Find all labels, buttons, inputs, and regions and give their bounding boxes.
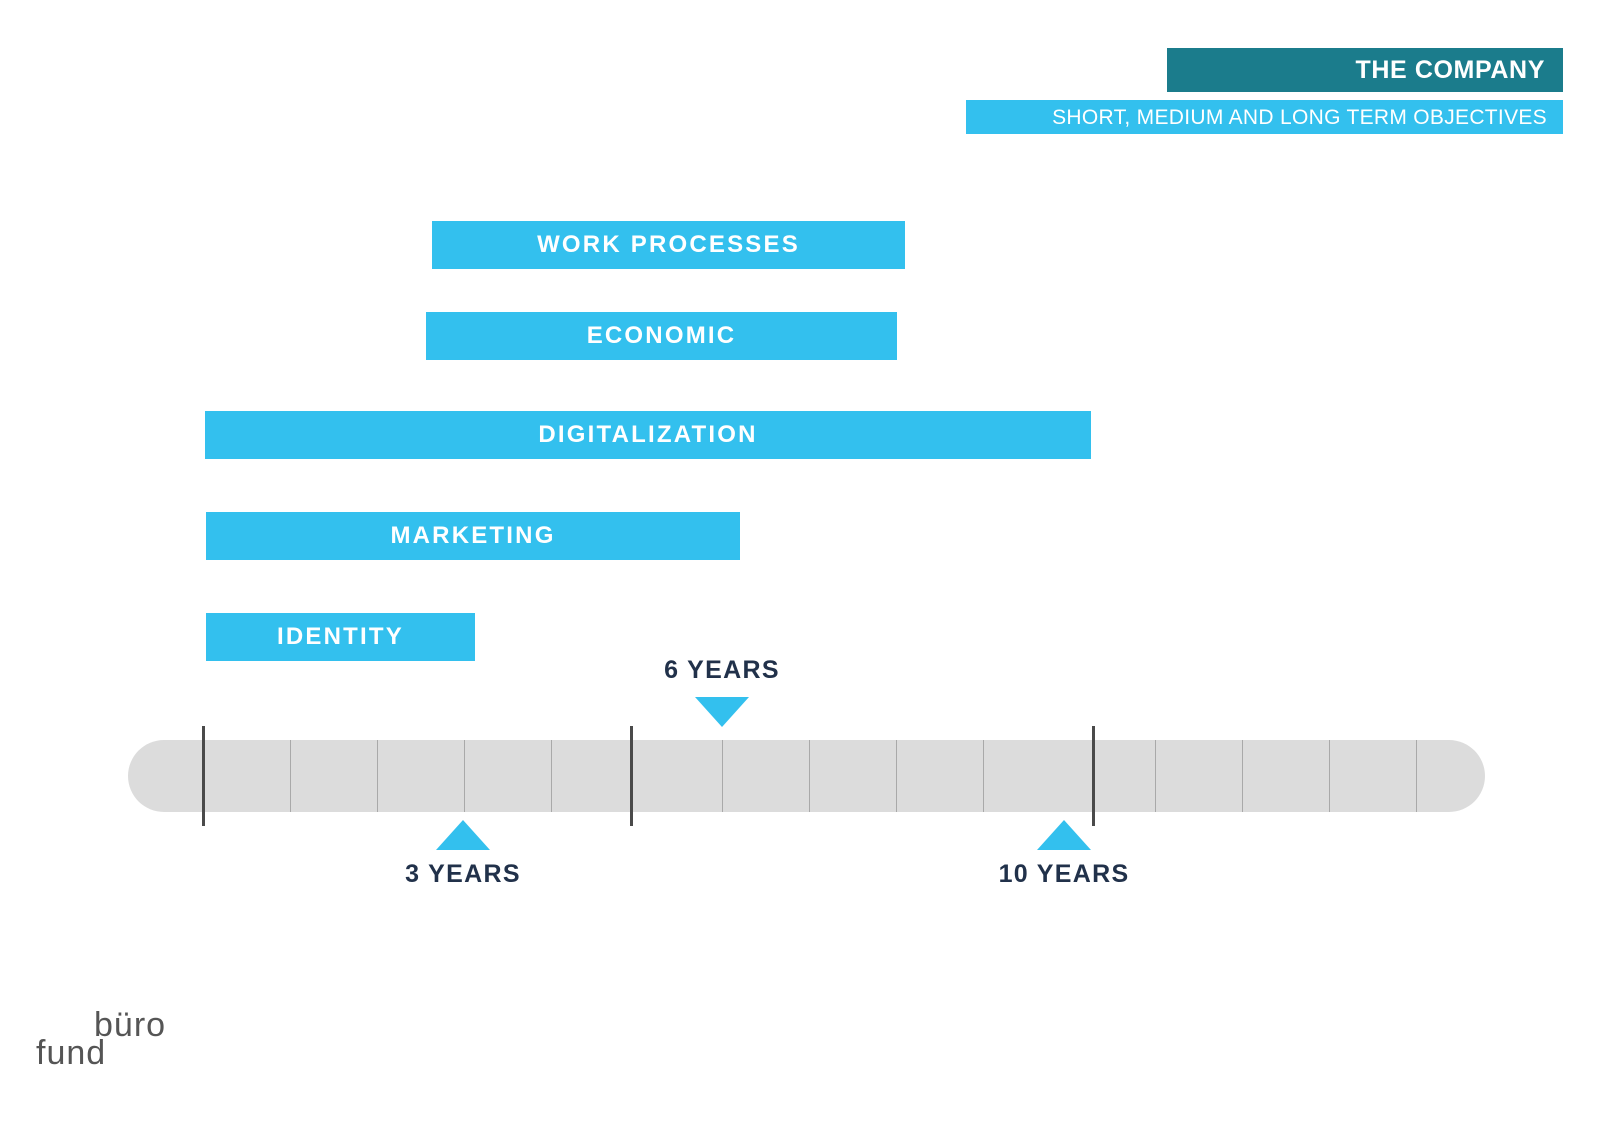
timeline-tick-minor <box>290 740 291 812</box>
timeline-tick-minor <box>1416 740 1417 812</box>
header-title-block: THE COMPANY <box>1167 48 1563 92</box>
timeline-tick-minor <box>551 740 552 812</box>
header-subtitle-block: SHORT, MEDIUM AND LONG TERM OBJECTIVES <box>966 100 1563 134</box>
timeline-tick-minor <box>1242 740 1243 812</box>
timeline-marker-label: 10 YEARS <box>999 862 1130 887</box>
timeline-tick-minor <box>983 740 984 812</box>
timeline-tick-minor <box>377 740 378 812</box>
logo: fund büro <box>36 1008 196 1078</box>
timeline-tick-major <box>1092 726 1095 826</box>
objective-bar: MARKETING <box>206 512 740 560</box>
objective-bar: WORK PROCESSES <box>432 221 905 269</box>
timeline-marker: 3 YEARS <box>373 820 553 887</box>
timeline-tick-minor <box>722 740 723 812</box>
page-subtitle: SHORT, MEDIUM AND LONG TERM OBJECTIVES <box>1052 107 1547 128</box>
triangle-down-icon <box>695 697 749 727</box>
slide-canvas: THE COMPANY SHORT, MEDIUM AND LONG TERM … <box>0 0 1612 1140</box>
page-title: THE COMPANY <box>1356 58 1545 83</box>
objective-bar: ECONOMIC <box>426 312 897 360</box>
objective-bar-label: MARKETING <box>390 524 555 548</box>
timeline-tick-minor <box>896 740 897 812</box>
timeline-marker-label: 6 YEARS <box>664 658 780 683</box>
timeline-track <box>128 740 1485 812</box>
timeline-marker: 10 YEARS <box>974 820 1154 887</box>
timeline-marker-label: 3 YEARS <box>405 862 521 887</box>
triangle-up-icon <box>436 820 490 850</box>
timeline-tick-major <box>202 726 205 826</box>
objective-bar-label: DIGITALIZATION <box>538 423 757 447</box>
timeline-tick-minor <box>464 740 465 812</box>
objective-bar-label: WORK PROCESSES <box>537 233 800 257</box>
objective-bar: IDENTITY <box>206 613 475 661</box>
objective-bar-label: ECONOMIC <box>587 324 737 348</box>
timeline-tick-minor <box>1155 740 1156 812</box>
objective-bar-label: IDENTITY <box>277 625 404 649</box>
logo-word-secondary: büro <box>94 1008 166 1042</box>
timeline-tick-minor <box>809 740 810 812</box>
timeline-tick-minor <box>1329 740 1330 812</box>
objective-bar: DIGITALIZATION <box>205 411 1091 459</box>
timeline-tick-major <box>630 726 633 826</box>
timeline-marker: 6 YEARS <box>632 658 812 727</box>
triangle-up-icon <box>1037 820 1091 850</box>
